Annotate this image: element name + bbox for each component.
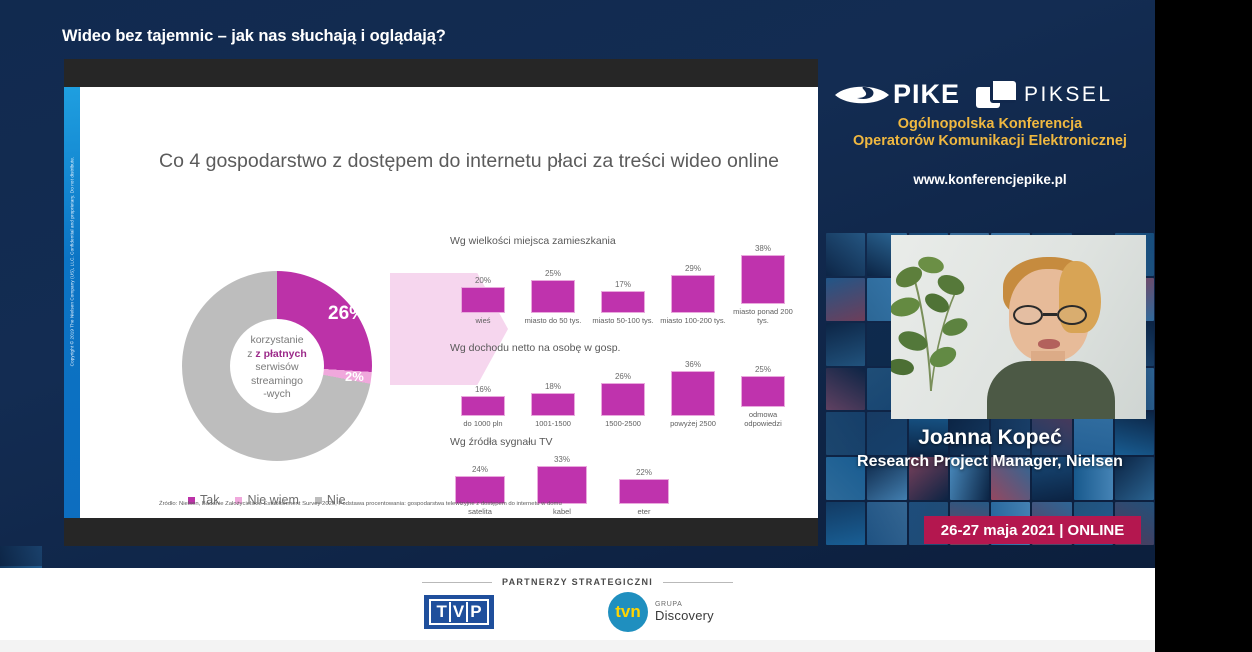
piksel-logo: PIKSEL: [976, 81, 1113, 109]
event-date-badge: 26-27 maja 2021 | ONLINE: [924, 516, 1141, 544]
bar-category-label: powyżej 2500: [660, 419, 726, 428]
bar-value-label: 24%: [472, 465, 488, 474]
bar-category-label: miasto do 50 tys.: [520, 316, 586, 325]
slide-headline: Co 4 gospodarstwo z dostępem do internet…: [159, 150, 779, 173]
bar: [455, 476, 505, 504]
speaker-mouth: [1038, 339, 1060, 349]
bar-value-label: 22%: [636, 468, 652, 477]
bar: [671, 371, 715, 416]
bar-chart-residence: Wg wielkości miejsca zamieszkania 20%wie…: [450, 235, 790, 325]
chart-title-income: Wg dochodu netto na osobę w gosp.: [450, 342, 790, 354]
right-letterbox: [1155, 0, 1252, 652]
footer-bottom-strip: [0, 640, 1155, 652]
partners-label: PARTNERZY STRATEGICZNI: [502, 577, 653, 587]
video-wall-strip: [0, 546, 1155, 568]
donut-center-line-2: z płatnych: [255, 348, 306, 360]
video-wall-tile: [0, 546, 42, 566]
partners-heading: PARTNERZY STRATEGICZNI: [0, 577, 1155, 587]
donut-center-line-4: streamingo: [251, 375, 303, 387]
bar: [601, 291, 645, 313]
tvn-circle: tvn: [608, 592, 648, 632]
bar: [461, 396, 505, 416]
nielsen-side-strip: Copyright © 2019 The Nielsen Company (US…: [64, 87, 80, 518]
tvp-letter-v: V: [451, 602, 468, 622]
bar-value-label: 25%: [755, 365, 771, 374]
bar-category-label: miasto 100-200 tys.: [660, 316, 726, 325]
donut-hole: korzystanie z z płatnych serwisów stream…: [230, 319, 324, 413]
bar-category-label: 1001-1500: [520, 419, 586, 428]
bar-value-label: 20%: [475, 276, 491, 285]
chart-title-signal: Wg źródła sygnału TV: [450, 436, 670, 448]
bar: [461, 287, 505, 313]
discovery-grupa: GRUPA: [655, 601, 714, 608]
piksel-mark-icon: [976, 81, 1016, 109]
bar-group: 24%satelita: [450, 465, 510, 516]
divider-left: [422, 582, 492, 583]
conference-url: www.konferencjepike.pl: [825, 172, 1155, 187]
bar-category-label: 1500-2500: [590, 419, 656, 428]
bar-group: 29%miasto 100-200 tys.: [660, 264, 726, 325]
tvp-letter-p: P: [468, 602, 483, 622]
partner-logo-tvp[interactable]: T V P: [424, 595, 494, 629]
bar: [741, 376, 785, 407]
bar-value-label: 26%: [615, 372, 631, 381]
bar-group: 22%eter: [614, 468, 674, 516]
bar: [531, 280, 575, 313]
bar-group: 36%powyżej 2500: [660, 360, 726, 428]
partner-logo-tvn[interactable]: tvn GRUPA Discovery: [608, 592, 714, 632]
tvp-letter-t: T: [434, 602, 450, 622]
conference-title-line2: Operatorów Komunikacji Elektronicznej: [853, 133, 1127, 149]
bar-value-label: 29%: [685, 264, 701, 273]
bar-value-label: 18%: [545, 382, 561, 391]
bar-category-label: kabel: [532, 507, 592, 516]
bar-category-label: do 1000 pln: [450, 419, 516, 428]
conference-title-line1: Ogólnopolska Konferencja: [898, 116, 1083, 132]
bar-category-label: eter: [614, 507, 674, 516]
bar-group: 25%miasto do 50 tys.: [520, 269, 586, 325]
bar-value-label: 25%: [545, 269, 561, 278]
slide-content: n Co 4 gospodarstwo z dostępem do intern…: [80, 87, 818, 518]
plant-decoration: [891, 241, 981, 391]
bar-chart-income: Wg dochodu netto na osobę w gosp. 16%do …: [450, 342, 790, 428]
bar-category-label: satelita: [450, 507, 510, 516]
bar-group: 17%miasto 50-100 tys.: [590, 280, 656, 325]
speaker-torso: [987, 361, 1115, 419]
partners-footer: PARTNERZY STRATEGICZNI T V P tvn GRUPA D…: [0, 568, 1155, 640]
bar: [619, 479, 669, 504]
presentation-viewer: Wideo bez tajemnic – jak nas słuchają i …: [0, 0, 1252, 652]
donut-center-line-5: -wych: [263, 388, 290, 400]
logo-row: PIKE PIKSEL: [833, 79, 1155, 110]
speaker-role: Research Project Manager, Nielsen: [825, 453, 1155, 471]
piksel-label: PIKSEL: [1024, 83, 1113, 107]
bar-group: 25%odmowa odpowiedzi: [730, 365, 796, 428]
divider-right: [663, 582, 733, 583]
pike-eye-icon: [833, 82, 891, 108]
donut-value-tak: 26%: [328, 303, 366, 325]
donut-center-line-3: serwisów: [255, 361, 298, 373]
donut-center-label: korzystanie z z płatnych serwisów stream…: [230, 334, 324, 402]
bar-category-label: miasto ponad 200 tys.: [730, 307, 796, 325]
pike-label: PIKE: [893, 79, 960, 110]
bar-group: 18%1001-1500: [520, 382, 586, 428]
bar-value-label: 33%: [554, 455, 570, 464]
discovery-name: Discovery: [655, 608, 714, 623]
discovery-group-label: GRUPA Discovery: [655, 601, 714, 623]
donut-center-line-1: korzystanie: [250, 334, 303, 346]
copyright-text: Copyright © 2019 The Nielsen Company (US…: [70, 87, 75, 438]
bar: [537, 466, 587, 504]
bar-value-label: 38%: [755, 244, 771, 253]
bar-category-label: odmowa odpowiedzi: [730, 410, 796, 428]
bars-income: 16%do 1000 pln18%1001-150026%1500-250036…: [450, 360, 790, 428]
slide-frame[interactable]: Copyright © 2019 The Nielsen Company (US…: [64, 59, 818, 546]
bar: [531, 393, 575, 416]
bar: [741, 255, 785, 304]
bar-value-label: 36%: [685, 360, 701, 369]
donut-value-niewiem: 2%: [345, 369, 364, 384]
conference-branding-panel: PIKE PIKSEL Ogólnopolska Konferencja Ope…: [825, 59, 1155, 546]
bar-category-label: wieś: [450, 316, 516, 325]
bars-residence: 20%wieś25%miasto do 50 tys.17%miasto 50-…: [450, 253, 790, 325]
bar-category-label: miasto 50-100 tys.: [590, 316, 656, 325]
bar: [671, 275, 715, 313]
speaker-webcam-video[interactable]: [891, 235, 1146, 419]
bar-value-label: 16%: [475, 385, 491, 394]
bar-value-label: 17%: [615, 280, 631, 289]
glasses-icon: [1013, 305, 1087, 325]
conference-title: Ogólnopolska Konferencja Operatorów Komu…: [825, 116, 1155, 150]
bar-group: 16%do 1000 pln: [450, 385, 516, 428]
bar: [601, 383, 645, 416]
pike-logo: PIKE: [833, 79, 960, 110]
bar-group: 26%1500-2500: [590, 372, 656, 428]
speaker-name: Joanna Kopeć: [825, 426, 1155, 450]
slide-footnote: Źródło: Nielsen, Badanie Założycielskie …: [159, 501, 562, 507]
tvp-letters: T V P: [429, 599, 488, 625]
deck-title: Wideo bez tajemnic – jak nas słuchają i …: [62, 27, 446, 46]
slide: Copyright © 2019 The Nielsen Company (US…: [64, 87, 818, 518]
bar-group: 38%miasto ponad 200 tys.: [730, 244, 796, 325]
bar-group: 20%wieś: [450, 276, 516, 325]
